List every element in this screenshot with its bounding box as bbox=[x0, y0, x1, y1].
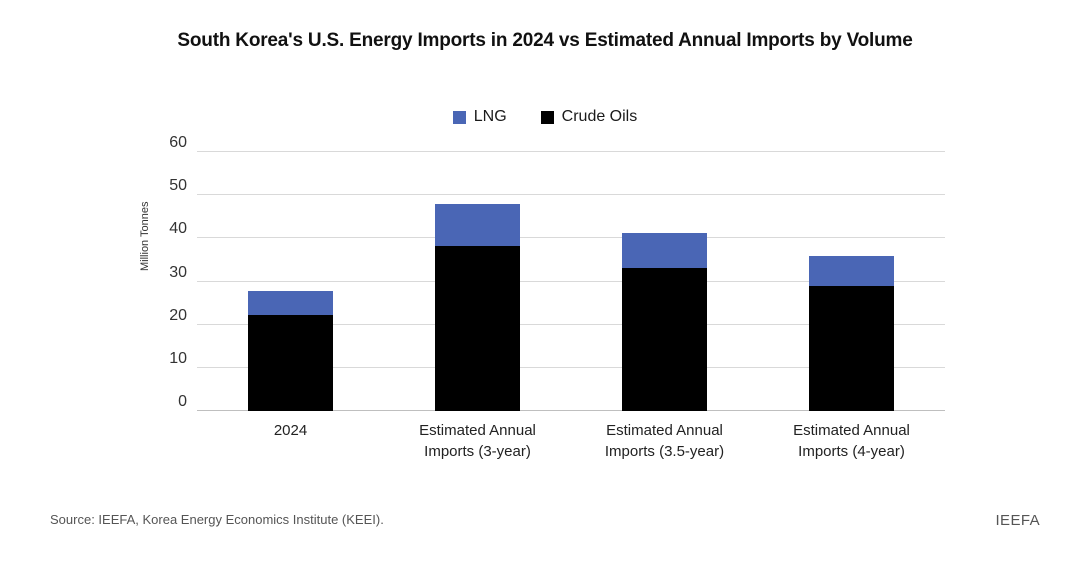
x-tick-label: Estimated AnnualImports (4-year) bbox=[757, 420, 947, 462]
y-tick-label-0: 0 bbox=[143, 393, 187, 411]
bar-group[interactable] bbox=[809, 256, 894, 411]
x-tick-label: Estimated AnnualImports (3-year) bbox=[383, 420, 573, 462]
x-tick-label-line: Estimated Annual bbox=[383, 420, 573, 441]
brand-label: IEEFA bbox=[995, 512, 1040, 529]
x-tick-label-line: Imports (3-year) bbox=[383, 441, 573, 462]
y-tick-label-50: 50 bbox=[143, 177, 187, 195]
bar-series-container bbox=[197, 152, 945, 411]
bar-segment-lng[interactable] bbox=[248, 291, 333, 315]
x-tick-label-line: 2024 bbox=[196, 420, 386, 441]
y-tick-label-10: 10 bbox=[143, 350, 187, 368]
chart-plot-area: Million Tonnes 0102030405060 2024Estimat… bbox=[0, 0, 1090, 568]
bar-segment-lng[interactable] bbox=[622, 233, 707, 268]
x-axis-labels: 2024Estimated AnnualImports (3-year)Esti… bbox=[197, 420, 945, 480]
x-tick-label: Estimated AnnualImports (3.5-year) bbox=[570, 420, 760, 462]
bar-segment-lng[interactable] bbox=[809, 256, 894, 286]
bar-group[interactable] bbox=[622, 233, 707, 411]
bar-segment-crude-oils[interactable] bbox=[248, 315, 333, 411]
bar-segment-lng[interactable] bbox=[435, 204, 520, 246]
x-tick-label-line: Imports (3.5-year) bbox=[570, 441, 760, 462]
plot-canvas: 0102030405060 bbox=[197, 152, 945, 411]
y-tick-label-20: 20 bbox=[143, 307, 187, 325]
x-tick-label-line: Estimated Annual bbox=[757, 420, 947, 441]
bar-group[interactable] bbox=[248, 291, 333, 411]
source-note: Source: IEEFA, Korea Energy Economics In… bbox=[50, 512, 384, 527]
x-tick-label: 2024 bbox=[196, 420, 386, 441]
y-tick-label-40: 40 bbox=[143, 220, 187, 238]
x-tick-label-line: Imports (4-year) bbox=[757, 441, 947, 462]
bar-segment-crude-oils[interactable] bbox=[435, 246, 520, 411]
bar-segment-crude-oils[interactable] bbox=[622, 268, 707, 411]
y-tick-label-30: 30 bbox=[143, 264, 187, 282]
bar-segment-crude-oils[interactable] bbox=[809, 286, 894, 411]
x-tick-label-line: Estimated Annual bbox=[570, 420, 760, 441]
y-tick-label-60: 60 bbox=[143, 134, 187, 152]
bar-group[interactable] bbox=[435, 204, 520, 411]
